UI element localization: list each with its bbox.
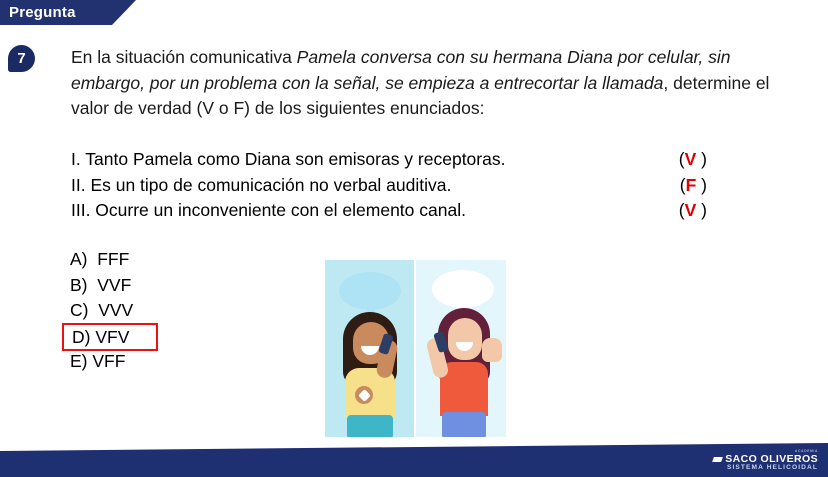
statement-row: I. Tanto Pamela como Diana son emisoras … [71,147,731,173]
illustration-two-girls-on-phone [325,260,506,437]
header-tab: Pregunta [0,0,136,25]
statement-list: I. Tanto Pamela como Diana son emisoras … [71,147,731,224]
header-tab-label: Pregunta [0,0,76,25]
illustration-panel-left [325,260,414,437]
girl-left-skirt [347,415,393,437]
speech-bubble-left-icon [339,272,401,310]
logo-mark-icon [712,457,723,462]
answer-value: V [685,149,697,169]
statement-answer-marker: (V ) [679,198,707,224]
logo-main-label: SACO OLIVEROS [713,454,818,465]
answer-value: F [686,175,697,195]
statement-answer-marker: (V ) [679,147,707,173]
stem-text-part1: En la situación comunicativa [71,47,297,67]
answer-value: V [685,200,697,220]
girl-right-waving-hand [482,338,502,362]
statement-text: II. Es un tipo de comunicación no verbal… [71,173,451,199]
paren-close: ) [696,200,707,220]
logo-sub-label: SISTEMA HELICOIDAL [713,465,818,472]
brand-logo: ACADEMIA SACO OLIVEROS SISTEMA HELICOIDA… [713,450,818,473]
option-c[interactable]: C) VVV [68,298,158,324]
statement-row: II. Es un tipo de comunicación no verbal… [71,173,731,199]
speech-bubble-right-icon [432,270,494,308]
statement-text: III. Ocurre un inconveniente con el elem… [71,198,466,224]
answer-options: A) FFF B) VVF C) VVV D) VFV E) VFF [68,247,158,374]
option-d[interactable]: D) VFV [62,323,158,351]
option-b[interactable]: B) VVF [68,273,158,299]
statement-row: III. Ocurre un inconveniente con el elem… [71,198,731,224]
option-e[interactable]: E) VFF [68,349,158,375]
illustration-panel-right [414,260,506,437]
question-number-label: 7 [17,51,25,66]
logo-main-text: SACO OLIVEROS [725,453,818,465]
option-a[interactable]: A) FFF [68,247,158,273]
paren-close: ) [696,175,707,195]
girl-right-skirt [442,412,486,437]
statement-text: I. Tanto Pamela como Diana son emisoras … [71,147,505,173]
question-number-badge: 7 [8,45,35,72]
girl-right-face [448,318,482,360]
paren-close: ) [696,149,707,169]
question-stem: En la situación comunicativa Pamela conv… [71,45,783,122]
footer-bar: ACADEMIA SACO OLIVEROS SISTEMA HELICOIDA… [0,443,828,477]
statement-answer-marker: (F ) [680,173,707,199]
